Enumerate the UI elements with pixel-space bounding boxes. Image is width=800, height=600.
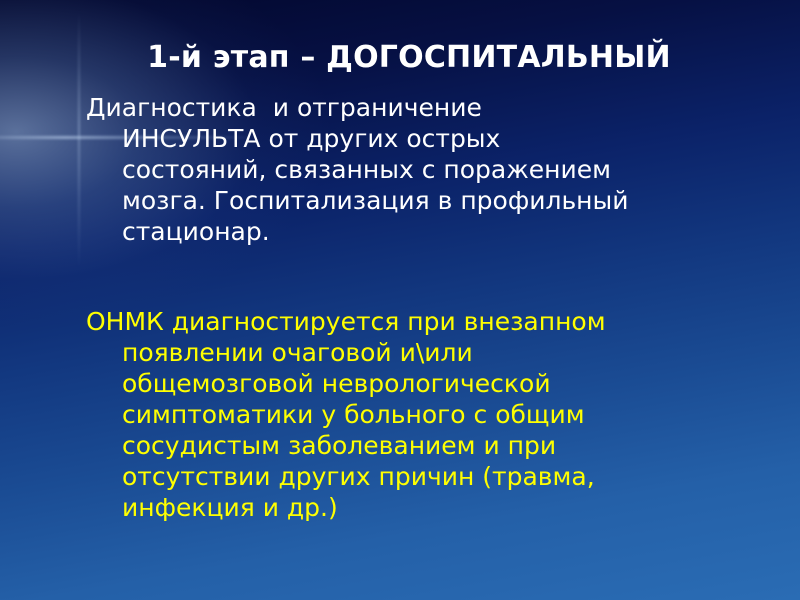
paragraph-line: инфекция и др.) bbox=[86, 492, 764, 523]
paragraph-onmk-text: ОНМК диагностируется при внезапном появл… bbox=[86, 306, 764, 523]
paragraph-line: отсутствии других причин (травма, bbox=[86, 461, 764, 492]
paragraph-line: сосудистым заболеванием и при bbox=[86, 430, 764, 461]
paragraph-line: мозга. Госпитализация в профильный bbox=[86, 185, 764, 216]
paragraph-line: симптоматики у больного с общим bbox=[86, 399, 764, 430]
paragraph-line: стационар. bbox=[86, 216, 764, 247]
paragraph-line: состояний, связанных с поражением bbox=[86, 154, 764, 185]
paragraph-line: появлении очаговой и\или bbox=[86, 337, 764, 368]
slide-title: 1-й этап – ДОГОСПИТАЛЬНЫЙ bbox=[0, 40, 800, 75]
paragraph-line: ИНСУЛЬТА от других острых bbox=[86, 123, 764, 154]
paragraph-onmk: ОНМК диагностируется при внезапном появл… bbox=[86, 306, 764, 523]
paragraph-line: общемозговой неврологической bbox=[86, 368, 764, 399]
paragraph-line: Диагностика и отграничение bbox=[86, 92, 764, 123]
presentation-slide: 1-й этап – ДОГОСПИТАЛЬНЫЙ Диагностика и … bbox=[0, 0, 800, 600]
paragraph-line: ОНМК диагностируется при внезапном bbox=[86, 306, 764, 337]
paragraph-diagnostics-text: Диагностика и отграничение ИНСУЛЬТА от д… bbox=[86, 92, 764, 247]
paragraph-diagnostics: Диагностика и отграничение ИНСУЛЬТА от д… bbox=[86, 92, 764, 247]
